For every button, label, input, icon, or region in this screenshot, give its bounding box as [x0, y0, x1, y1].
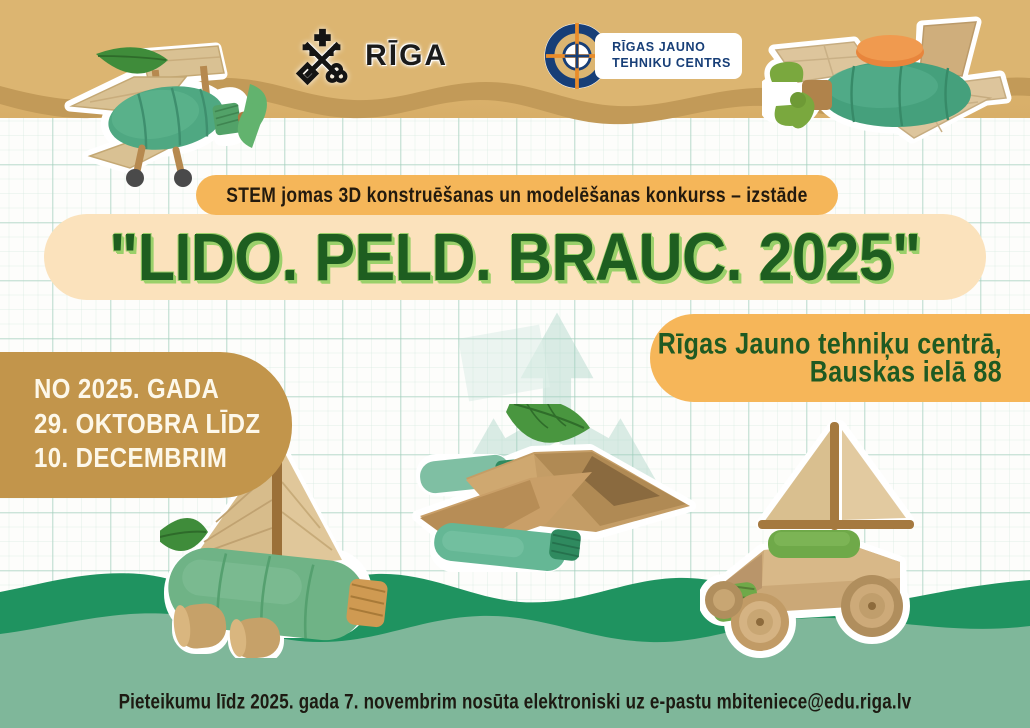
riga-crossed-keys-coat-of-arms-icon — [291, 25, 353, 87]
subtitle-pill: STEM jomas 3D konstruēšanas un modelēšan… — [196, 175, 838, 215]
footer-text: Pieteikumu līdz 2025. gada 7. novembrim … — [119, 690, 912, 715]
rjtc-line-2: TEHNIKU CENTRS — [612, 56, 731, 72]
rjtc-logo: RĪGAS JAUNO TEHNIKU CENTRS — [544, 23, 739, 89]
riga-wordmark: RĪGA — [365, 39, 448, 73]
subtitle-text: STEM jomas 3D konstruēšanas un modelēšan… — [226, 182, 807, 208]
date-block: NO 2025. GADA 29. OKTOBRA LĪDZ 10. DECEM… — [0, 352, 292, 498]
riga-logo: RĪGA — [291, 25, 448, 87]
address-line-2: Bauskas ielā 88 — [810, 355, 1002, 388]
cardboard-car-with-sail-illustration — [700, 416, 950, 666]
footer: Pieteikumu līdz 2025. gada 7. novembrim … — [0, 692, 1030, 712]
rjtc-wordmark: RĪGAS JAUNO TEHNIKU CENTRS — [598, 36, 739, 75]
page-title: "LIDO. PELD. BRAUC. 2025" — [109, 219, 920, 296]
rjtc-line-1: RĪGAS JAUNO — [612, 40, 731, 56]
title-container: "LIDO. PELD. BRAUC. 2025" — [44, 214, 986, 300]
poster-canvas: RĪGA RĪGAS JAUNO TEHNIKU CENTRS — [0, 0, 1030, 728]
cardboard-boat-bottle-pontoons-illustration — [404, 404, 704, 584]
address-block: Rīgas Jauno tehniķu centrā, Bauskas ielā… — [650, 314, 1030, 402]
logos-row: RĪGA RĪGAS JAUNO TEHNIKU CENTRS — [0, 16, 1030, 96]
date-line-3: 10. DECEMBRIM — [34, 440, 292, 480]
